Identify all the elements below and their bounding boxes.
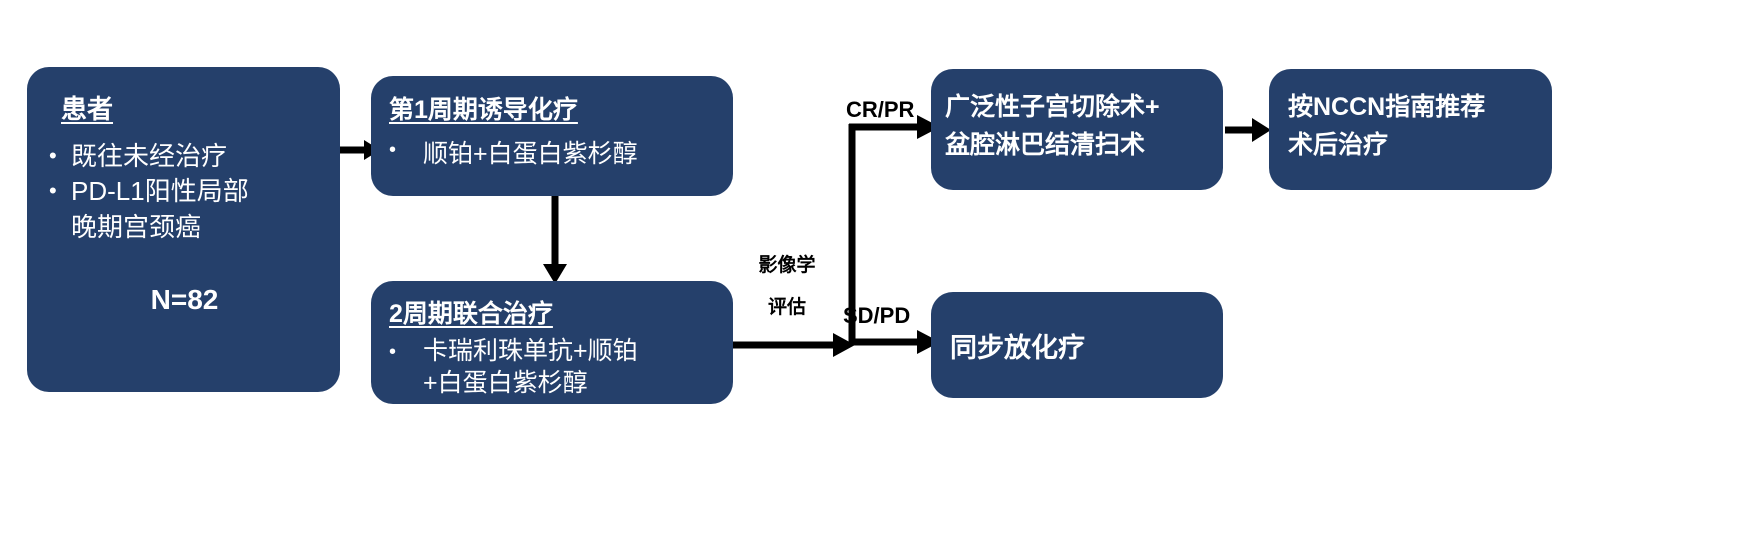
list-item: • PD-L1阳性局部: [49, 175, 320, 208]
arrow-combination-to-split: [733, 325, 855, 365]
arrow-induction-to-combination: [535, 196, 575, 286]
edge-label-imaging-assessment: 影像学 评估: [744, 255, 830, 320]
node-radical-hysterectomy-line2: 盆腔淋巴结清扫术: [945, 127, 1213, 165]
list-item-label: 既往未经治疗: [71, 140, 320, 173]
edge-label-cr-pr: CR/PR: [846, 97, 914, 123]
node-radical-hysterectomy[interactable]: 广泛性子宫切除术+ 盆腔淋巴结清扫术: [931, 69, 1223, 190]
node-induction-chemo-title: 第1周期诱导化疗: [389, 90, 719, 126]
bullet-icon: •: [389, 134, 423, 160]
node-radical-hysterectomy-line1: 广泛性子宫切除术+: [945, 89, 1213, 127]
list-item: • 卡瑞利珠单抗+顺铂: [389, 336, 721, 368]
node-patients[interactable]: 患者 • 既往未经治疗 • PD-L1阳性局部 晚期宫颈癌 N=82: [27, 67, 340, 392]
node-nccn-adjuvant-line2: 术后治疗: [1288, 127, 1542, 165]
node-patients-bullets: • 既往未经治疗 • PD-L1阳性局部 晚期宫颈癌: [49, 140, 320, 244]
list-item-label: 卡瑞利珠单抗+顺铂: [423, 336, 721, 368]
arrow-surgery-to-nccn: [1225, 110, 1271, 150]
node-combination-therapy-title: 2周期联合治疗: [389, 294, 721, 330]
node-induction-chemo[interactable]: 第1周期诱导化疗 • 顺铂+白蛋白紫杉醇: [371, 76, 733, 196]
edge-label-sd-pd: SD/PD: [843, 303, 910, 329]
node-patients-sample-size: N=82: [49, 284, 320, 316]
list-item-label: PD-L1阳性局部: [71, 175, 320, 208]
list-item: • 顺铂+白蛋白紫杉醇: [389, 134, 719, 170]
bullet-icon: •: [49, 140, 71, 167]
node-nccn-adjuvant-line1: 按NCCN指南推荐: [1288, 89, 1542, 127]
list-item-continuation: +白蛋白紫杉醇: [423, 368, 721, 400]
node-induction-chemo-bullets: • 顺铂+白蛋白紫杉醇: [389, 134, 719, 170]
node-nccn-adjuvant-text: 按NCCN指南推荐 术后治疗: [1288, 89, 1542, 164]
node-patients-title: 患者: [61, 89, 320, 126]
edge-label-imaging-line2: 评估: [744, 297, 830, 319]
node-concurrent-chemoradiation[interactable]: 同步放化疗: [931, 292, 1223, 398]
list-item: • 既往未经治疗: [49, 140, 320, 173]
bullet-icon: •: [49, 175, 71, 202]
node-combination-therapy[interactable]: 2周期联合治疗 • 卡瑞利珠单抗+顺铂 +白蛋白紫杉醇: [371, 281, 733, 404]
node-nccn-adjuvant[interactable]: 按NCCN指南推荐 术后治疗: [1269, 69, 1552, 190]
node-radical-hysterectomy-text: 广泛性子宫切除术+ 盆腔淋巴结清扫术: [945, 89, 1213, 164]
flowchart-canvas: 影像学 评估 CR/PR SD/PD 患者 • 既往未经治疗 • PD-L1阳性…: [0, 0, 1738, 537]
bullet-icon: •: [389, 336, 423, 362]
list-item-continuation: 晚期宫颈癌: [71, 211, 320, 244]
node-concurrent-chemoradiation-text: 同步放化疗: [950, 326, 1085, 365]
node-combination-therapy-bullets: • 卡瑞利珠单抗+顺铂 +白蛋白紫杉醇: [389, 336, 721, 399]
list-item-label: 顺铂+白蛋白紫杉醇: [423, 134, 719, 170]
node-concurrent-chemoradiation-line1: 同步放化疗: [950, 326, 1085, 365]
edge-label-imaging-line1: 影像学: [744, 255, 830, 277]
